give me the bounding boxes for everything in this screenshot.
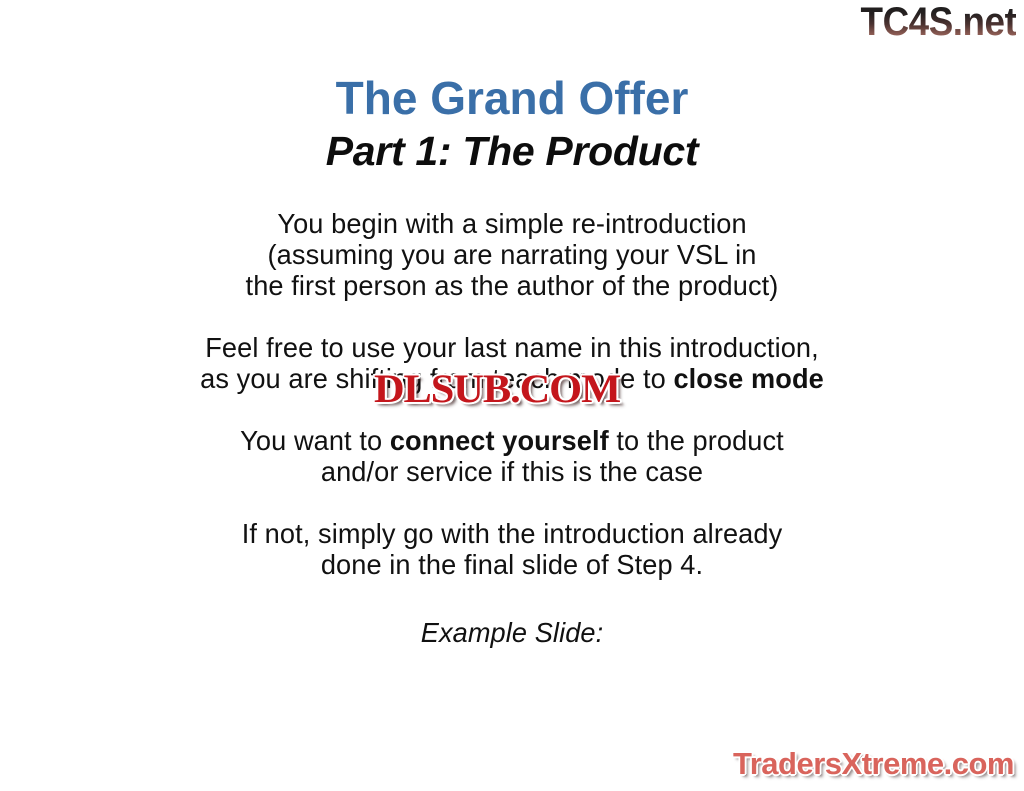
paragraph-connect-line-1: You want to connect yourself to the prod… (240, 425, 784, 456)
text-shifting-prefix: as you are shifting (200, 363, 430, 394)
example-slide-label: Example Slide: (421, 617, 604, 648)
paragraph-if-not: If not, simply go with the introduction … (15, 518, 1008, 580)
text-close-mode-emphasis: close mode (673, 363, 823, 394)
text-to-the-product: to the product (609, 425, 784, 456)
paragraph-intro: You begin with a simple re-introduction … (15, 208, 1008, 301)
paragraph-intro-line-3: the first person as the author of the pr… (246, 270, 779, 301)
tradersxtreme-logo: TradersXtreme.com (733, 748, 1014, 779)
paragraph-last-name: Feel free to use your last name in this … (15, 332, 1008, 394)
paragraph-if-not-line-2: done in the final slide of Step 4. (321, 549, 703, 580)
paragraph-if-not-line-1: If not, simply go with the introduction … (242, 518, 783, 549)
page-subtitle: Part 1: The Product (0, 129, 1024, 175)
paragraph-connect-line-2: and/or service if this is the case (321, 456, 703, 487)
text-mode-to: ode to (590, 363, 674, 394)
text-obscured-segment: from teach m (430, 363, 590, 394)
paragraph-example-slide: Example Slide: (15, 617, 1008, 648)
text-connect-yourself-emphasis: connect yourself (390, 425, 609, 456)
text-you-want-to: You want to (240, 425, 390, 456)
slide-title-block: The Grand Offer Part 1: The Product (0, 74, 1024, 175)
presentation-slide: TC4S.net The Grand Offer Part 1: The Pro… (0, 0, 1024, 791)
paragraph-last-name-line-2: as you are shifting from teach mode to c… (200, 363, 824, 394)
tc4s-logo: TC4S.net (860, 2, 1016, 42)
paragraph-last-name-line-1: Feel free to use your last name in this … (205, 332, 819, 363)
paragraph-connect: You want to connect yourself to the prod… (15, 425, 1008, 487)
slide-body: You begin with a simple re-introduction … (0, 208, 1024, 648)
page-title: The Grand Offer (0, 74, 1024, 122)
paragraph-intro-line-2: (assuming you are narrating your VSL in (268, 239, 757, 270)
paragraph-intro-line-1: You begin with a simple re-introduction (277, 208, 746, 239)
